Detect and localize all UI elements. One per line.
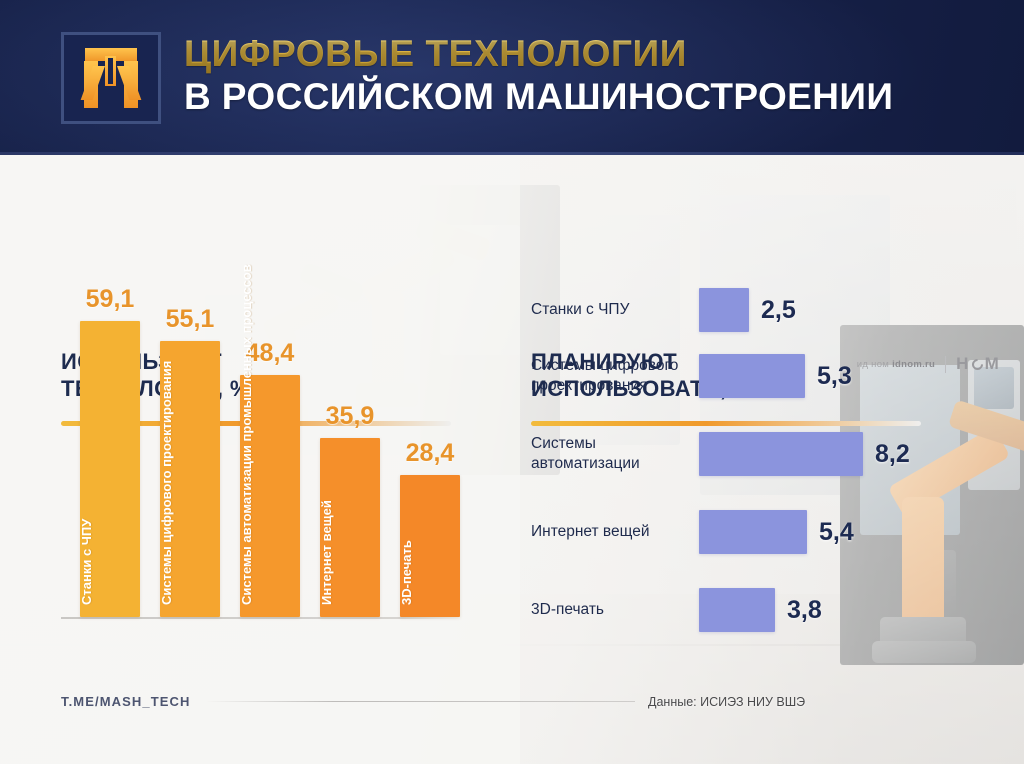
horizontal-bar-value: 8,2 — [875, 440, 910, 469]
horizontal-bar-label: 3D-печать — [531, 600, 699, 620]
horizontal-bar-row: Системы автоматизации 8,2 — [531, 426, 910, 482]
infographic-poster: ЦИФРОВЫЕ ТЕХНОЛОГИИ В РОССИЙСКОМ МАШИНОС… — [0, 0, 1024, 764]
horizontal-bar-label: Интернет вещей — [531, 522, 699, 542]
header-title-line1: ЦИФРОВЫЕ ТЕХНОЛОГИИ — [184, 33, 893, 74]
horizontal-bar-value: 3,8 — [787, 596, 822, 625]
right-bar-chart: Станки с ЧПУ 2,5 Системы цифрового проек… — [0, 155, 1024, 764]
horizontal-bar — [699, 288, 749, 332]
tm-logo — [61, 32, 161, 124]
horizontal-bar-label: Системы автоматизации — [531, 434, 699, 474]
horizontal-bar-label: Станки с ЧПУ — [531, 300, 699, 320]
telegram-channel-label[interactable]: T.ME/MASH_TECH — [61, 694, 191, 709]
horizontal-bar-row: Станки с ЧПУ 2,5 — [531, 282, 796, 338]
tm-monogram-icon — [79, 48, 143, 108]
horizontal-bar — [699, 354, 805, 398]
header-title-group: ЦИФРОВЫЕ ТЕХНОЛОГИИ В РОССИЙСКОМ МАШИНОС… — [184, 33, 893, 118]
horizontal-bar-row: Интернет вещей 5,4 — [531, 504, 854, 560]
horizontal-bar — [699, 432, 863, 476]
header-title-line2: В РОССИЙСКОМ МАШИНОСТРОЕНИИ — [184, 76, 893, 117]
footer-divider — [205, 701, 635, 702]
horizontal-bar — [699, 510, 807, 554]
data-source-label: Данные: ИСИЭЗ НИУ ВШЭ — [648, 695, 805, 709]
horizontal-bar-row: 3D-печать 3,8 — [531, 582, 822, 638]
horizontal-bar — [699, 588, 775, 632]
header-banner: ЦИФРОВЫЕ ТЕХНОЛОГИИ В РОССИЙСКОМ МАШИНОС… — [0, 0, 1024, 155]
horizontal-bar-value: 2,5 — [761, 296, 796, 325]
horizontal-bar-row: Системы цифрового проектирования 5,3 — [531, 348, 852, 404]
horizontal-bar-label: Системы цифрового проектирования — [531, 356, 699, 396]
content-stage: ИСПОЛЬЗУЮТ ТЕХНОЛОГИИ, % ПЛАНИРУЮТ ИСПОЛ… — [0, 155, 1024, 764]
horizontal-bar-value: 5,3 — [817, 362, 852, 391]
horizontal-bar-value: 5,4 — [819, 518, 854, 547]
